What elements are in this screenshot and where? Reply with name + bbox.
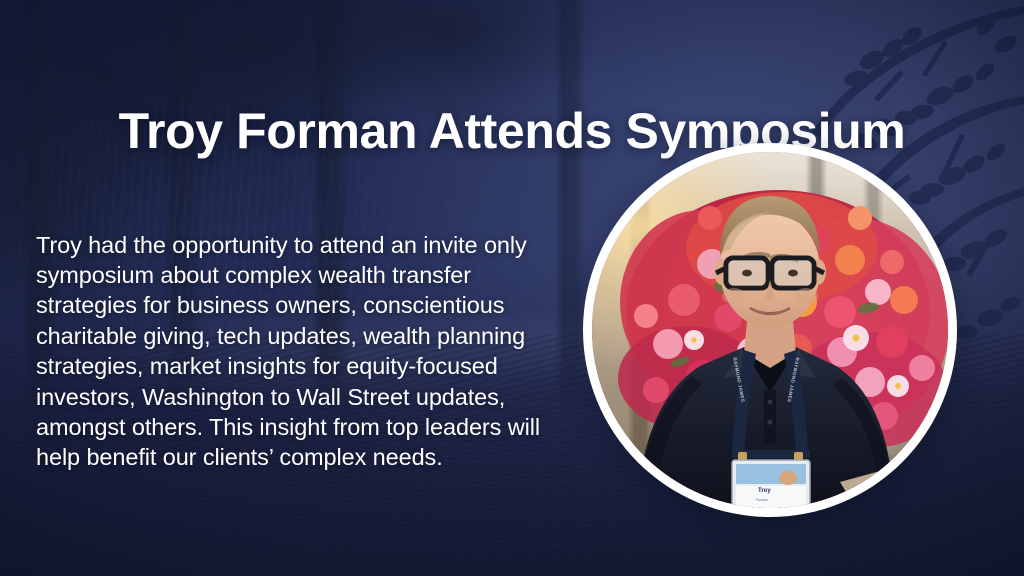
- badge-subtitle-text: Forman: [756, 498, 768, 502]
- slide-body-text: Troy had the opportunity to attend an in…: [36, 230, 561, 473]
- photo-subject-person: [592, 152, 948, 508]
- portrait-circle-frame: RAYMOND JAMES RAYMOND JAMES Troy Forman: [583, 143, 957, 517]
- badge-name-text: Troy: [758, 488, 771, 494]
- portrait-photo: RAYMOND JAMES RAYMOND JAMES Troy Forman: [592, 152, 948, 508]
- presentation-slide: Troy Forman Attends Symposium Troy had t…: [0, 0, 1024, 576]
- slide-title: Troy Forman Attends Symposium: [0, 104, 1024, 158]
- person-portrait-icon: [592, 152, 948, 508]
